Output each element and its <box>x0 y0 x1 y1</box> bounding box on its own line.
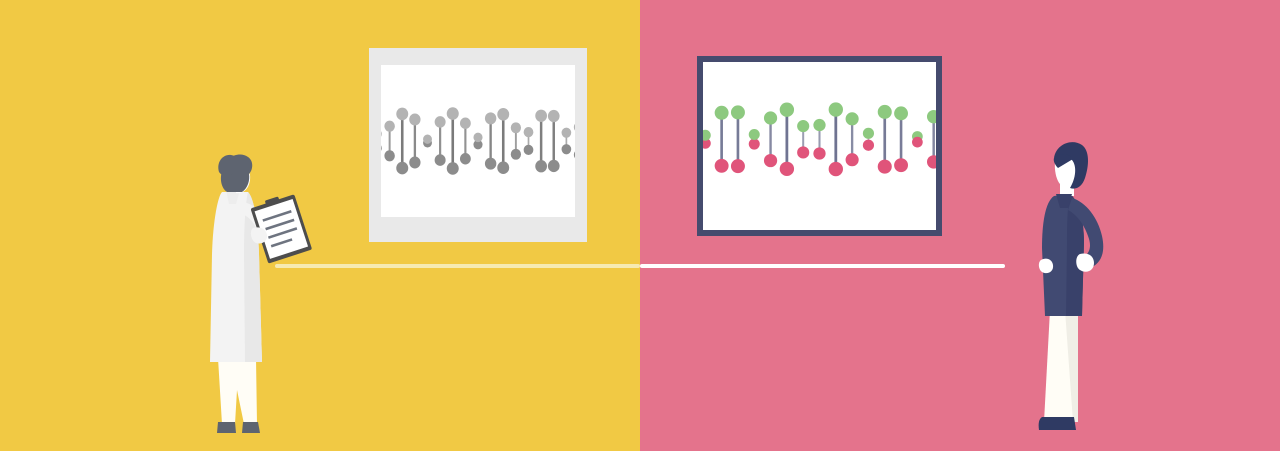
dna-bead <box>384 121 394 132</box>
dna-bead <box>863 128 874 139</box>
dna-bead <box>535 160 547 172</box>
man-shoe <box>1039 417 1076 430</box>
man-hand <box>1076 253 1094 271</box>
shelf-line-right <box>640 264 1005 268</box>
dna-bead <box>574 149 575 160</box>
dna-bead <box>473 133 482 143</box>
dna-bead <box>535 110 547 122</box>
dna-bead <box>894 158 908 172</box>
dna-bead <box>749 139 760 150</box>
male-observer-figure <box>1032 138 1162 443</box>
dna-bead <box>384 150 394 161</box>
color-dna-frame <box>697 56 942 236</box>
shelf-line-left <box>275 264 640 268</box>
female-scientist-figure <box>196 150 326 440</box>
dna-bead <box>780 162 794 176</box>
dna-bead <box>485 112 496 124</box>
dna-bead <box>381 129 382 139</box>
dna-bead <box>829 102 843 116</box>
dna-bead <box>797 120 809 132</box>
woman-shoe-front <box>242 422 260 433</box>
woman-shoe-back <box>217 422 236 433</box>
dna-bead <box>447 162 459 175</box>
dna-bead <box>846 153 859 166</box>
dna-bead <box>731 159 745 173</box>
dna-bead <box>764 111 777 124</box>
dna-bead <box>912 137 923 148</box>
dna-bead <box>764 154 777 167</box>
dna-bead <box>813 119 825 131</box>
dna-bead <box>435 116 446 128</box>
dna-bead <box>878 105 892 119</box>
dna-bead <box>715 106 729 120</box>
dna-bead <box>829 162 843 176</box>
dna-beads <box>381 107 575 175</box>
dna-bead <box>409 114 420 126</box>
dna-bead <box>863 140 874 151</box>
dna-bead <box>780 103 794 117</box>
dna-bead <box>423 135 432 144</box>
female-scientist-svg <box>196 150 326 440</box>
dna-bead <box>813 147 825 159</box>
color-dna-canvas <box>703 62 936 230</box>
dna-bead <box>460 118 471 129</box>
dna-bead <box>797 146 809 158</box>
dna-bead <box>511 149 521 160</box>
dna-bead <box>524 145 534 155</box>
dna-bead <box>409 157 420 169</box>
dna-bead <box>497 161 509 174</box>
dna-bead <box>574 122 575 133</box>
dna-bead <box>927 110 936 123</box>
dna-bead <box>396 162 408 175</box>
dna-bead <box>497 108 509 121</box>
dna-bead <box>878 160 892 174</box>
dna-bead <box>715 159 729 173</box>
dna-bead <box>749 129 760 140</box>
dna-bead <box>511 122 521 133</box>
dna-bead <box>894 106 908 120</box>
dna-bead <box>562 144 572 154</box>
dna-bead <box>548 110 560 122</box>
grayscale-dna-canvas <box>381 65 575 217</box>
color-dna-artwork <box>703 62 936 230</box>
dna-bead <box>396 108 408 121</box>
male-observer-svg <box>1032 138 1162 443</box>
dna-bead <box>927 155 936 168</box>
dna-bead <box>435 154 446 166</box>
woman-trousers <box>218 358 257 424</box>
dna-bead <box>524 127 534 137</box>
grayscale-dna-frame <box>369 48 587 242</box>
grayscale-dna-artwork <box>381 65 575 217</box>
dna-bead <box>548 160 560 172</box>
dna-bead <box>703 130 711 141</box>
illustration-scene <box>0 0 1280 451</box>
dna-bead <box>460 153 471 164</box>
dna-bead <box>485 158 496 170</box>
dna-bead <box>562 128 572 138</box>
dna-bead <box>731 105 745 119</box>
dna-bead <box>447 107 459 120</box>
dna-bead <box>381 143 382 153</box>
dna-bead <box>846 112 859 125</box>
man-pocket-cuff <box>1039 259 1053 274</box>
